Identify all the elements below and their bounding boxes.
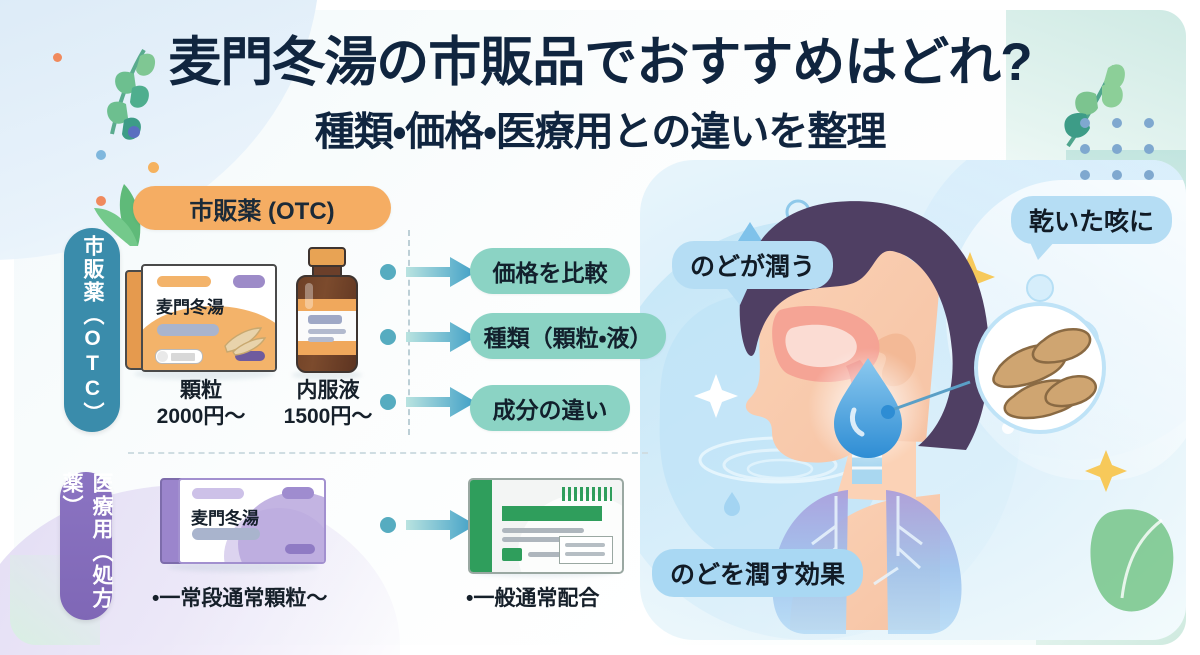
box-badge bbox=[155, 349, 203, 364]
rail-label-prescription: 医療用（処方薬） bbox=[60, 472, 112, 620]
benefit-pill-3[interactable]: 成分の違い bbox=[470, 385, 630, 431]
section-divider bbox=[128, 452, 648, 454]
bubble-tail bbox=[1029, 240, 1056, 260]
arrow-row-1 bbox=[380, 257, 476, 287]
caption-granule-name: 顆粒 bbox=[125, 378, 277, 404]
rxbox-product-name: 麦門冬湯 bbox=[191, 504, 259, 529]
box-bar bbox=[157, 324, 219, 336]
rxbox-face: 麦門冬湯 bbox=[178, 478, 326, 564]
rxcard-line bbox=[528, 552, 562, 557]
rxcard-band bbox=[502, 506, 602, 521]
caption-prescription-granule: •一常段通常顆粒〜 bbox=[152, 582, 327, 612]
caption-granule: 顆粒 2000円〜 bbox=[125, 378, 277, 431]
benefit-pill-2[interactable]: 種類（顆粒・液） bbox=[470, 313, 666, 359]
caption-liquid-name: 内服液 bbox=[282, 378, 374, 404]
rxcard-stripe bbox=[470, 480, 492, 572]
rxbox-bar bbox=[282, 487, 314, 499]
throat-effect-bubble-label: のどを潤す効果 bbox=[670, 555, 845, 591]
barcode-icon bbox=[562, 487, 612, 501]
dry-cough-bubble: 乾いた咳に bbox=[1011, 196, 1172, 244]
bottle-cap bbox=[308, 247, 346, 267]
arrow-row-3 bbox=[380, 387, 476, 417]
arrow-row-2 bbox=[380, 322, 476, 352]
throat-effect-bubble: のどを潤す効果 bbox=[652, 549, 863, 597]
medicine-bottle-icon bbox=[294, 247, 360, 375]
prescription-card-icon bbox=[468, 478, 624, 574]
bottle-label-line bbox=[308, 337, 334, 342]
arrow-right-icon bbox=[406, 322, 476, 352]
arrow-row-4 bbox=[380, 510, 476, 540]
caption-granule-price: 2000円〜 bbox=[125, 404, 277, 430]
medicine-box-icon: 麦門冬湯 bbox=[125, 264, 277, 372]
prescription-box-icon: 麦門冬湯 bbox=[160, 478, 326, 564]
box-bar bbox=[157, 276, 211, 287]
arrow-right-icon bbox=[406, 257, 476, 287]
rxbox-bar bbox=[192, 528, 260, 540]
arrow-dot-icon bbox=[380, 394, 396, 410]
leaf-sprig-icon bbox=[92, 42, 162, 152]
box-face: 麦門冬湯 bbox=[141, 264, 277, 372]
bottle-label-line bbox=[308, 329, 346, 334]
rxcard-subbox bbox=[559, 536, 613, 564]
caption-prescription-mix: •一般通常配合 bbox=[466, 582, 599, 612]
otc-badge: 市販薬 (OTC) bbox=[133, 186, 391, 230]
decor-dot-grid bbox=[1080, 118, 1156, 180]
decor-dot bbox=[96, 196, 106, 206]
bottle-label-line bbox=[308, 315, 342, 324]
herb-root-icon bbox=[976, 304, 1104, 432]
rxbox-bar bbox=[285, 544, 315, 554]
caption-liquid: 内服液 1500円〜 bbox=[282, 378, 374, 431]
page-subtitle: 種類・価格・医療用との違いを整理 bbox=[0, 108, 1200, 156]
rxbox-bar bbox=[192, 488, 244, 499]
arrow-right-icon bbox=[406, 387, 476, 417]
throat-moist-bubble-label: のどが潤う bbox=[690, 247, 815, 283]
rxcard-square bbox=[502, 548, 522, 561]
decor-dot bbox=[53, 53, 62, 62]
arrow-dot-icon bbox=[380, 329, 396, 345]
bubble-tail bbox=[724, 285, 749, 305]
bottle-gloss bbox=[305, 283, 313, 309]
benefit-pill-1[interactable]: 価格を比較 bbox=[470, 248, 630, 294]
decor-dot bbox=[148, 162, 159, 173]
box-herb-icon bbox=[221, 322, 267, 356]
decor-dot bbox=[96, 150, 106, 160]
rxcard-line bbox=[502, 528, 584, 533]
rail-label-otc: 市販薬（OTC） bbox=[64, 228, 120, 432]
arrow-dot-icon bbox=[380, 264, 396, 280]
caption-liquid-price: 1500円〜 bbox=[282, 404, 374, 430]
decor-dot bbox=[128, 126, 140, 138]
throat-moist-bubble: のどが潤う bbox=[672, 241, 833, 289]
page-title: 麦門冬湯の市販品でおすすめはどれ? bbox=[0, 36, 1200, 89]
box-product-name: 麦門冬湯 bbox=[156, 293, 224, 318]
arrow-dot-icon bbox=[380, 517, 396, 533]
box-bar bbox=[233, 275, 265, 288]
dry-cough-bubble-label: 乾いた咳に bbox=[1029, 202, 1154, 238]
bottle-body bbox=[296, 275, 358, 373]
arrow-right-icon bbox=[406, 510, 476, 540]
infographic-canvas: 麦門冬湯の市販品でおすすめはどれ? 種類・価格・医療用との違いを整理 市販薬 (… bbox=[0, 0, 1200, 655]
